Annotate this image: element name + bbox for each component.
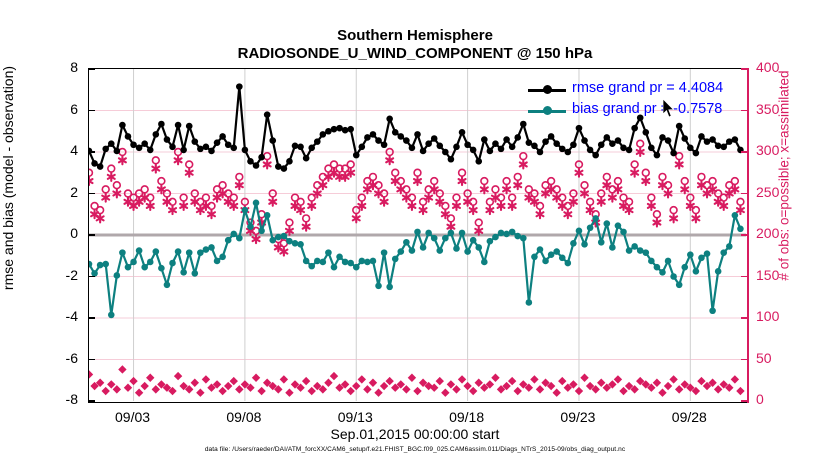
data-file-caption: data file: /Users/raeder/DAI/ATM_forcXX/… [0,446,830,453]
x-tick-3: 09/18 [432,409,502,425]
y-tickmark-left-4 [88,234,95,236]
x-tick-2: 09/13 [320,409,390,425]
y-tick-left-3: -2 [34,267,78,283]
chart-legend: rmse grand pr = 4.4084 bias grand pr = -… [528,80,753,122]
y-tickmark-left-1 [88,359,95,361]
x-tick-5: 09/28 [654,409,724,425]
y-tick-left-1: -6 [34,350,78,366]
y-tick-left-8: 8 [34,59,78,75]
y-tickmark-right-3 [741,276,748,278]
y-tick-left-5: 2 [34,184,78,200]
y-tick-left-4: 0 [34,225,78,241]
y-tickmark-right-5 [741,193,748,195]
y-tickmark-left-0 [88,400,95,402]
series-bias [89,200,744,319]
y-tickmark-left-5 [88,193,95,195]
y-tick-left-2: -4 [34,308,78,324]
y-tickmark-right-1 [741,359,748,361]
legend-item-bias[interactable]: bias grand pr = -0.7578 [528,101,753,122]
x-axis-label: Sep.01,2015 00:00:00 start [0,426,830,442]
y-tickmark-right-2 [741,317,748,319]
legend-label-bias: bias grand pr = -0.7578 [572,101,722,117]
mouse-cursor-icon [663,99,675,118]
chart-title-line2: RADIOSONDE_U_WIND_COMPONENT @ 150 hPa [0,45,830,62]
y-tickmark-left-3 [88,276,95,278]
y-axis-left-label: rmse and bias (model - observation) [0,0,16,418]
legend-marker-bias [543,106,552,115]
y-tickmark-left-8 [88,68,95,70]
y-tickmark-right-0 [741,400,748,402]
y-tick-left-0: -8 [34,391,78,407]
legend-label-rmse: rmse grand pr = 4.4084 [572,80,723,96]
series-obs-lower-band [89,365,745,397]
x-tick-1: 09/08 [209,409,279,425]
y-tickmark-left-7 [88,110,95,112]
y-tickmark-left-2 [88,317,95,319]
x-tick-4: 09/23 [543,409,613,425]
y-tickmark-right-4 [741,234,748,236]
y-tick-left-7: 6 [34,101,78,117]
bias-line [89,203,740,315]
x-tick-0: 09/03 [98,409,168,425]
figure-root: Southern Hemisphere RADIOSONDE_U_WIND_CO… [0,0,830,470]
legend-item-rmse[interactable]: rmse grand pr = 4.4084 [528,80,753,101]
y-axis-right-label: # of obs: o=possible; x=assimilated [777,0,792,416]
legend-marker-rmse [543,85,552,94]
chart-title-line1: Southern Hemisphere [0,27,830,44]
y-tickmark-left-6 [88,151,95,153]
y-tickmark-right-8 [741,68,748,70]
y-tick-left-6: 4 [34,142,78,158]
y-tickmark-right-6 [741,151,748,153]
